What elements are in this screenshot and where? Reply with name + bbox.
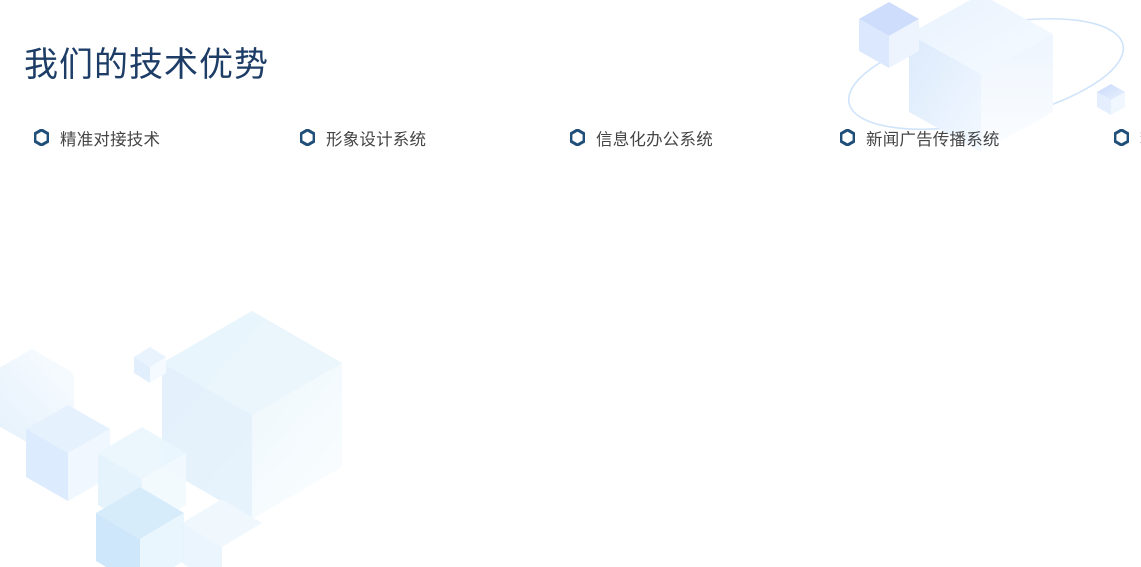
- list-item-label: 信息化办公系统: [596, 126, 713, 150]
- hexagon-bullet-icon: [34, 129, 49, 146]
- hexagon-bullet-icon: [840, 129, 855, 146]
- list-item[interactable]: 信息化办公系统: [570, 113, 840, 162]
- list-item[interactable]: 精准对接技术: [34, 113, 300, 162]
- technology-advantages-list: 精准对接技术 形象设计系统 信息化办公系统 新闻广告传播系统 积分系统: [34, 113, 1114, 162]
- hexagon-bullet-icon: [570, 129, 585, 146]
- small-cube-shape: [859, 2, 919, 68]
- medium-hexagon-shape: [0, 349, 74, 445]
- list-item[interactable]: 形象设计系统: [300, 113, 570, 162]
- hexagon-bullet-icon: [1114, 129, 1129, 146]
- list-item-label: 新闻广告传播系统: [866, 126, 1000, 150]
- slide-root: 我们的技术优势 精准对接技术 形象设计系统 信息化办公系统 新闻广告传播: [0, 0, 1141, 567]
- cube-cluster-shape: [26, 347, 262, 567]
- list-item[interactable]: 新闻广告传播系统: [840, 113, 1114, 162]
- list-item-label: 形象设计系统: [326, 126, 426, 150]
- big-hexagon-shape: [162, 311, 342, 519]
- hexagon-bullet-icon: [300, 129, 315, 146]
- list-item[interactable]: 积分系统: [1114, 113, 1141, 162]
- hexagon-cluster-decoration: [0, 287, 470, 567]
- page-title: 我们的技术优势: [24, 44, 269, 87]
- list-item-label: 精准对接技术: [60, 126, 160, 150]
- tiny-cube-shape: [1097, 84, 1125, 115]
